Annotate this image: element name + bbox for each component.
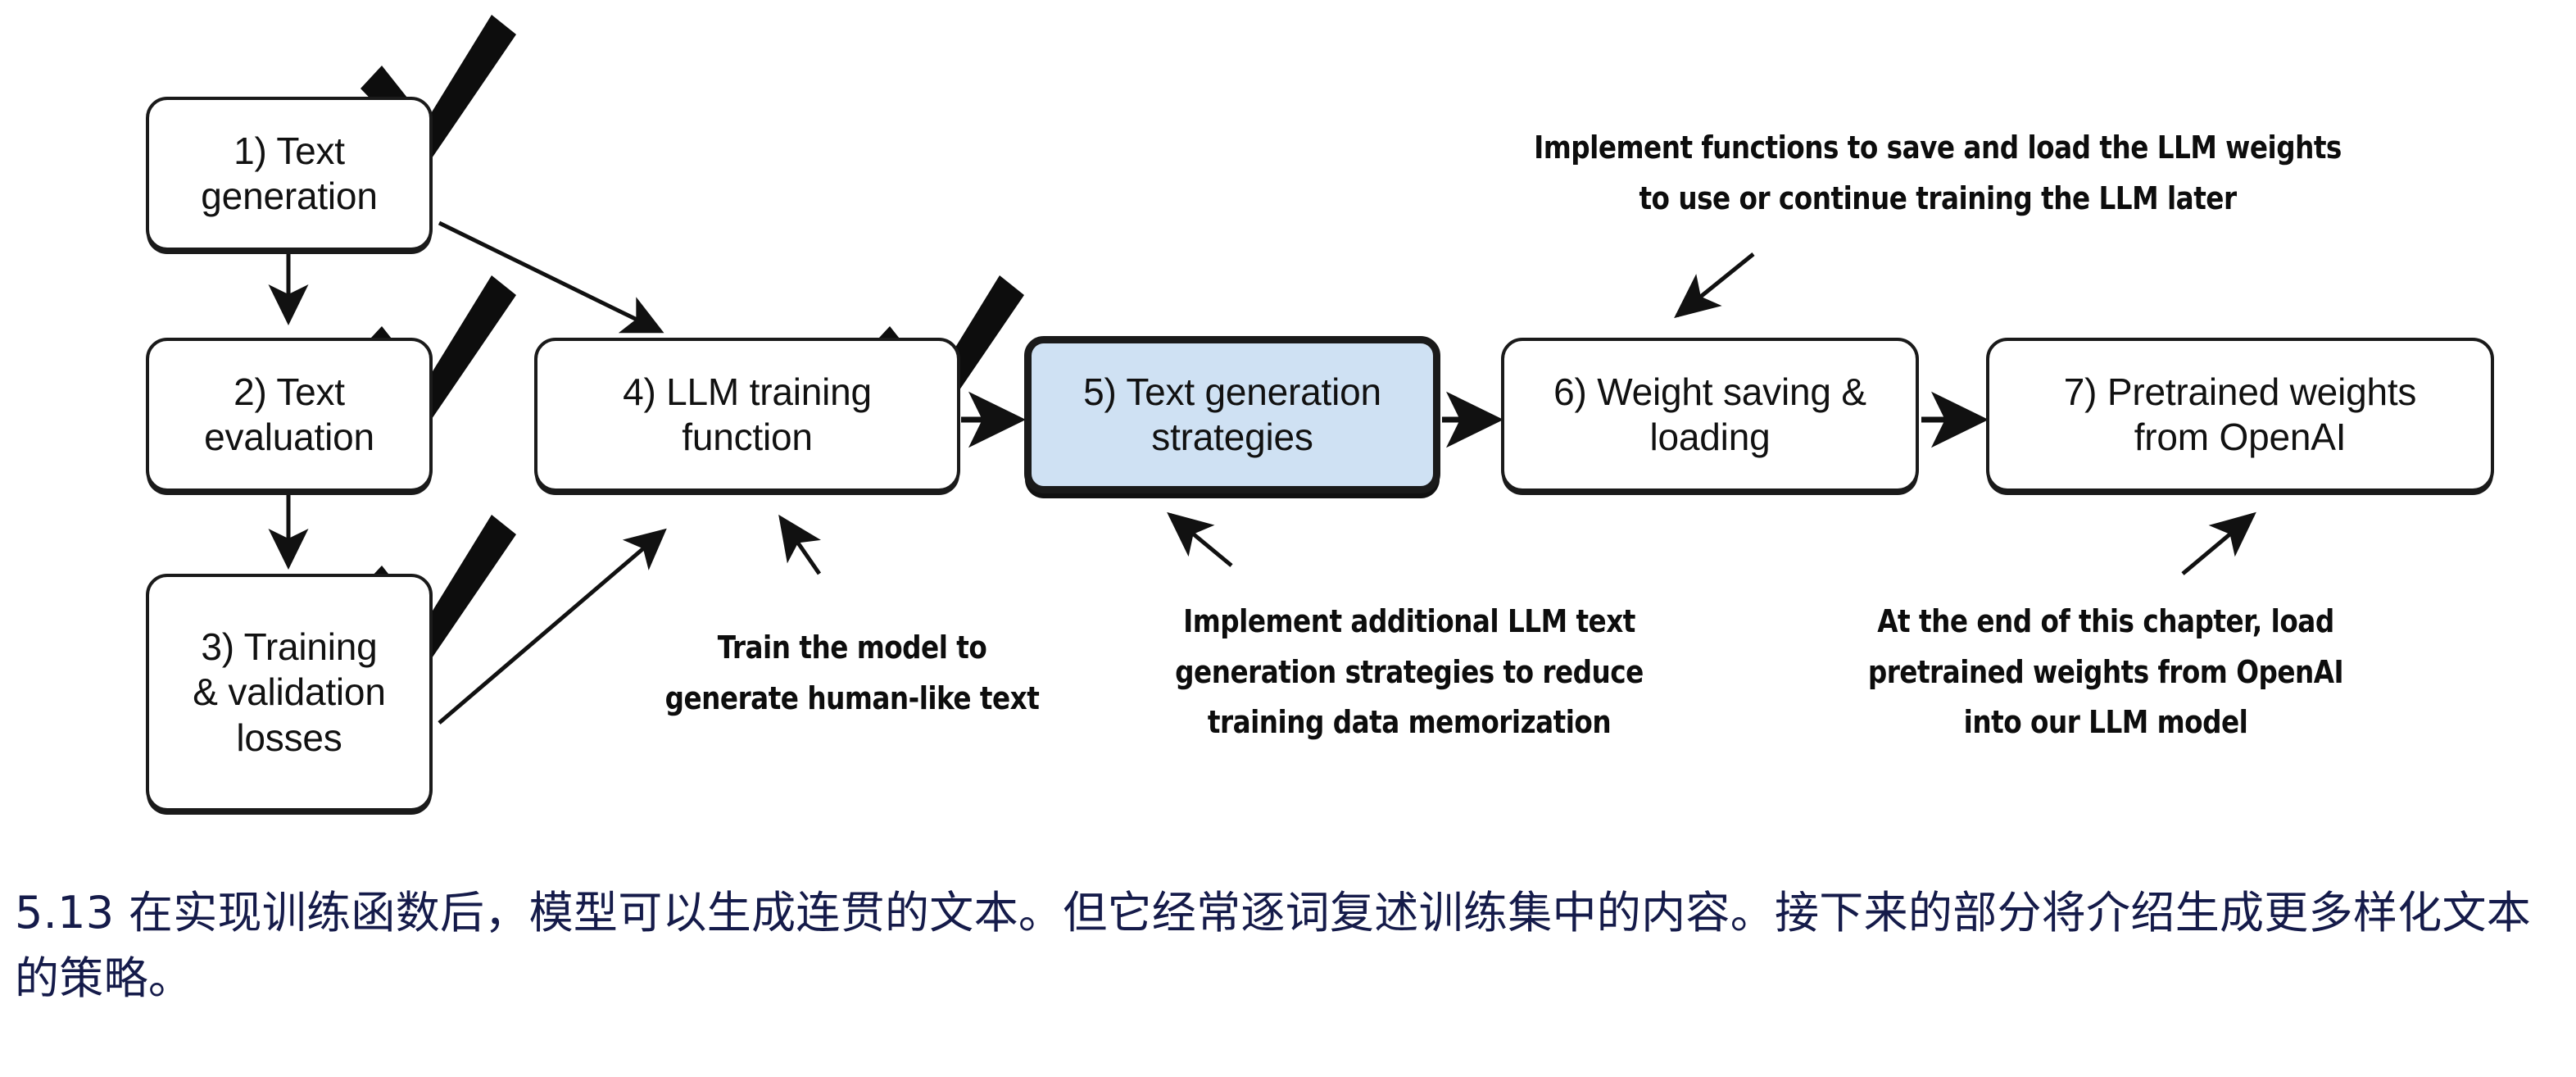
node-llm-training-function[interactable]: 4) LLM training function xyxy=(534,338,960,492)
pointer-annotation-weights xyxy=(1677,254,1753,316)
pointer-annotation-openai xyxy=(2183,515,2253,574)
node-label: 3) Training & validation losses xyxy=(186,625,392,761)
annotation-openai-weights: At the end of this chapter, load pretrai… xyxy=(1838,597,2374,748)
node-text-generation-strategies[interactable]: 5) Text generation strategies xyxy=(1024,336,1440,493)
node-label: 7) Pretrained weights from OpenAI xyxy=(2057,370,2423,460)
annotation-train-model: Train the model to generate human-like t… xyxy=(605,623,1099,724)
node-label: 5) Text generation strategies xyxy=(1077,370,1388,460)
node-text-evaluation[interactable]: 2) Text evaluation xyxy=(146,338,433,492)
annotation-generation-strategies: Implement additional LLM text generation… xyxy=(1135,597,1685,748)
node-label: 1) Text generation xyxy=(194,129,383,219)
figure-caption: 5.13 在实现训练函数后，模型可以生成连贯的文本。但它经常逐词复述训练集中的内… xyxy=(15,880,2563,1011)
node-label: 4) LLM training function xyxy=(616,370,878,460)
node-weight-saving-loading[interactable]: 6) Weight saving & loading xyxy=(1501,338,1919,492)
pointer-annotation-strategies xyxy=(1170,515,1231,566)
pointer-annotation-train xyxy=(781,518,819,574)
annotation-weights: Implement functions to save and load the… xyxy=(1490,123,2385,224)
node-training-validation-losses[interactable]: 3) Training & validation losses xyxy=(146,574,433,811)
node-text-generation[interactable]: 1) Text generation xyxy=(146,97,433,251)
figure-canvas: 1) Text generation 2) Text evaluation 3)… xyxy=(0,0,2576,1077)
node-label: 6) Weight saving & loading xyxy=(1547,370,1873,460)
node-label: 2) Text evaluation xyxy=(197,370,381,460)
node-pretrained-weights-openai[interactable]: 7) Pretrained weights from OpenAI xyxy=(1986,338,2494,492)
arrow-n1-to-n4 xyxy=(439,223,660,331)
